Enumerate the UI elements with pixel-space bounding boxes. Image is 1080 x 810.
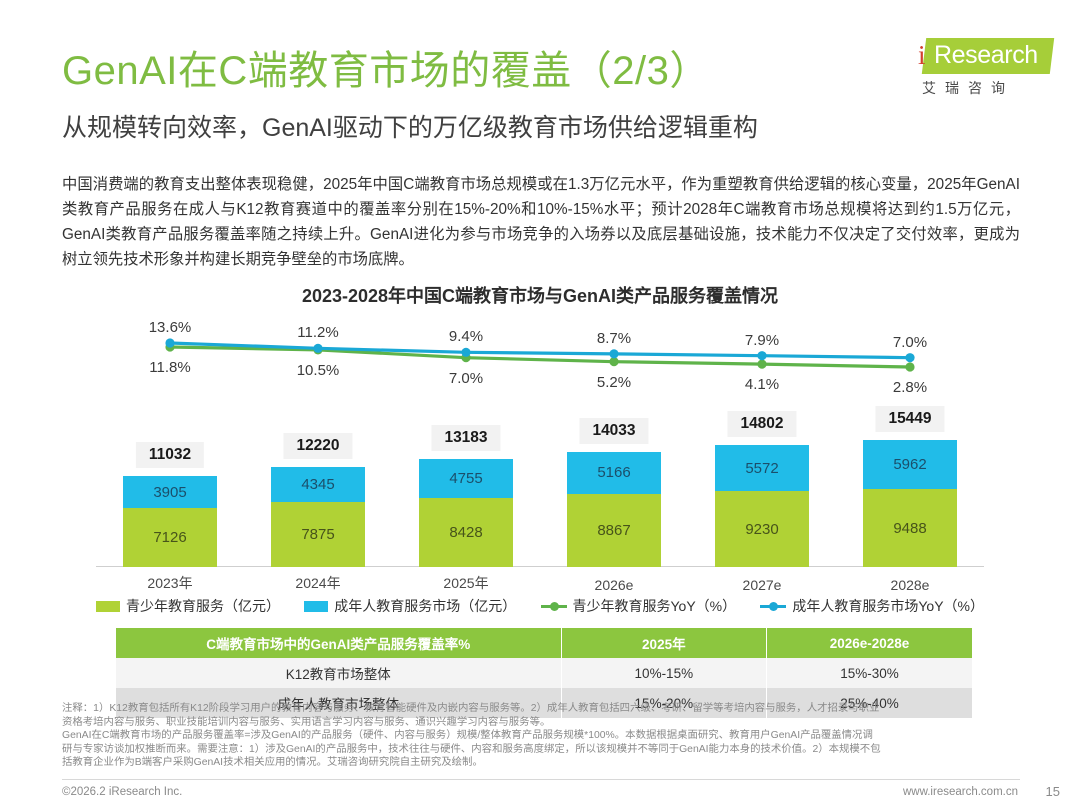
footer-divider xyxy=(62,779,1020,780)
bar-segment-adult[interactable]: 4755 xyxy=(419,459,513,498)
total-value-box: 14033 xyxy=(579,418,648,444)
bar-segment-youth[interactable]: 7126 xyxy=(123,508,217,567)
total-value-box: 13183 xyxy=(431,425,500,451)
bar-segment-youth[interactable]: 8867 xyxy=(567,494,661,567)
bar-segment-adult[interactable]: 5166 xyxy=(567,452,661,494)
chart-column: 8.7%5.2%14033516688672026e xyxy=(540,315,688,595)
table-header-cell: C端教育市场中的GenAI类产品服务覆盖率% xyxy=(116,628,561,658)
table-cell: 10%-15% xyxy=(561,658,766,688)
bar-segment-youth[interactable]: 9230 xyxy=(715,491,809,567)
legend-label: 成年人教育服务市场YoY（%） xyxy=(792,596,984,616)
logo-chinese-name: 艾瑞咨询 xyxy=(922,78,1014,98)
adult-yoy-label: 7.0% xyxy=(836,334,984,351)
bar-segment-youth[interactable]: 8428 xyxy=(419,498,513,567)
x-axis-label: 2026e xyxy=(540,577,688,593)
bar-segment-youth[interactable]: 7875 xyxy=(271,502,365,567)
legend-label: 青少年教育服务（亿元） xyxy=(126,596,280,616)
adult-yoy-label: 7.9% xyxy=(688,332,836,349)
legend-line-swatch-icon xyxy=(541,600,567,612)
youth-yoy-label: 11.8% xyxy=(96,359,244,376)
logo-badge: i Research xyxy=(904,36,1052,76)
x-axis-label: 2023年 xyxy=(96,573,244,593)
legend-item[interactable]: 成年人教育服务市场（亿元） xyxy=(304,596,516,616)
stacked-bar[interactable]: 39057126 xyxy=(123,476,217,567)
chart-column: 7.9%4.1%14802557292302027e xyxy=(688,315,836,595)
page-title: GenAI在C端教育市场的覆盖（2/3） xyxy=(62,38,710,96)
footnotes: 注释：1）K12教育包括所有K12阶段学习用户的教育内容与服务、教育智能硬件及内… xyxy=(62,702,1020,770)
bar-segment-adult[interactable]: 5962 xyxy=(863,440,957,489)
bar-segment-youth[interactable]: 9488 xyxy=(863,489,957,567)
bar-segment-adult[interactable]: 3905 xyxy=(123,476,217,508)
slide-page: GenAI在C端教育市场的覆盖（2/3） 从规模转向效率，GenAI驱动下的万亿… xyxy=(0,0,1080,810)
logo-i-mark: i xyxy=(918,42,926,69)
x-axis-label: 2028e xyxy=(836,577,984,593)
footnote-line: 研与专家访谈加权推断而来。需要注意：1）涉及GenAI的产品服务中，技术往往与硬… xyxy=(62,743,1020,757)
chart-column: 13.6%11.8%11032390571262023年 xyxy=(96,315,244,595)
table-header-cell: 2025年 xyxy=(561,628,766,658)
table-header-cell: 2026e-2028e xyxy=(767,628,972,658)
chart-column: 9.4%7.0%13183475584282025年 xyxy=(392,315,540,595)
total-value-box: 11032 xyxy=(136,442,204,468)
iresearch-logo: i Research 艾瑞咨询 xyxy=(904,36,1052,100)
legend-label: 成年人教育服务市场（亿元） xyxy=(334,596,516,616)
chart-title: 2023-2028年中国C端教育市场与GenAI类产品服务覆盖情况 xyxy=(0,282,1080,308)
chart-column: 7.0%2.8%15449596294882028e xyxy=(836,315,984,595)
youth-yoy-label: 7.0% xyxy=(392,370,540,387)
adult-yoy-label: 11.2% xyxy=(244,324,392,341)
chart-area: 13.6%11.8%11032390571262023年11.2%10.5%12… xyxy=(96,315,984,595)
x-axis-label: 2027e xyxy=(688,577,836,593)
chart-columns: 13.6%11.8%11032390571262023年11.2%10.5%12… xyxy=(96,315,984,595)
website-text: www.iresearch.com.cn xyxy=(903,786,1018,798)
total-value-box: 14802 xyxy=(727,411,796,437)
stacked-bar[interactable]: 59629488 xyxy=(863,440,957,567)
stacked-bar[interactable]: 55729230 xyxy=(715,445,809,567)
stacked-bar[interactable]: 51668867 xyxy=(567,452,661,567)
footnote-line: GenAI在C端教育市场的产品服务覆盖率=涉及GenAI的产品服务（硬件、内容与… xyxy=(62,729,1020,743)
adult-yoy-label: 9.4% xyxy=(392,328,540,345)
youth-yoy-label: 10.5% xyxy=(244,362,392,379)
footnote-line: 括教育企业作为B端客户采购GenAI技术相关应用的情况。艾瑞咨询研究院自主研究及… xyxy=(62,756,1020,770)
stacked-bar[interactable]: 47558428 xyxy=(419,459,513,567)
logo-wordmark: Research xyxy=(934,41,1038,70)
legend-rect-swatch-icon xyxy=(304,601,328,612)
table-header-row: C端教育市场中的GenAI类产品服务覆盖率% 2025年 2026e-2028e xyxy=(116,628,972,658)
legend-line-swatch-icon xyxy=(760,600,786,612)
intro-paragraph: 中国消费端的教育支出整体表现稳健，2025年中国C端教育市场总规模或在1.3万亿… xyxy=(62,172,1020,272)
page-subtitle: 从规模转向效率，GenAI驱动下的万亿级教育市场供给逻辑重构 xyxy=(62,108,758,144)
youth-yoy-label: 2.8% xyxy=(836,379,984,396)
legend-label: 青少年教育服务YoY（%） xyxy=(573,596,737,616)
table-row: K12教育市场整体 10%-15% 15%-30% xyxy=(116,658,972,688)
page-number: 15 xyxy=(1046,784,1060,799)
x-axis-label: 2025年 xyxy=(392,573,540,593)
bar-segment-adult[interactable]: 4345 xyxy=(271,467,365,503)
adult-yoy-label: 8.7% xyxy=(540,330,688,347)
table-cell: 15%-30% xyxy=(767,658,972,688)
table-cell: K12教育市场整体 xyxy=(116,658,561,688)
stacked-bar[interactable]: 43457875 xyxy=(271,467,365,567)
chart-legend: 青少年教育服务（亿元）成年人教育服务市场（亿元）青少年教育服务YoY（%）成年人… xyxy=(96,596,984,616)
youth-yoy-label: 5.2% xyxy=(540,374,688,391)
total-value-box: 12220 xyxy=(283,433,352,459)
legend-item[interactable]: 成年人教育服务市场YoY（%） xyxy=(760,596,984,616)
footnote-line: 资格考培内容与服务、职业技能培训内容与服务、实用语言学习内容与服务、通识兴趣学习… xyxy=(62,716,1020,730)
legend-rect-swatch-icon xyxy=(96,601,120,612)
copyright-text: ©2026.2 iResearch Inc. xyxy=(62,786,182,798)
footnote-line: 注释：1）K12教育包括所有K12阶段学习用户的教育内容与服务、教育智能硬件及内… xyxy=(62,702,1020,716)
legend-item[interactable]: 青少年教育服务（亿元） xyxy=(96,596,280,616)
x-axis-label: 2024年 xyxy=(244,573,392,593)
youth-yoy-label: 4.1% xyxy=(688,376,836,393)
total-value-box: 15449 xyxy=(875,406,944,432)
chart-column: 11.2%10.5%12220434578752024年 xyxy=(244,315,392,595)
legend-item[interactable]: 青少年教育服务YoY（%） xyxy=(541,596,737,616)
adult-yoy-label: 13.6% xyxy=(96,319,244,336)
bar-segment-adult[interactable]: 5572 xyxy=(715,445,809,491)
